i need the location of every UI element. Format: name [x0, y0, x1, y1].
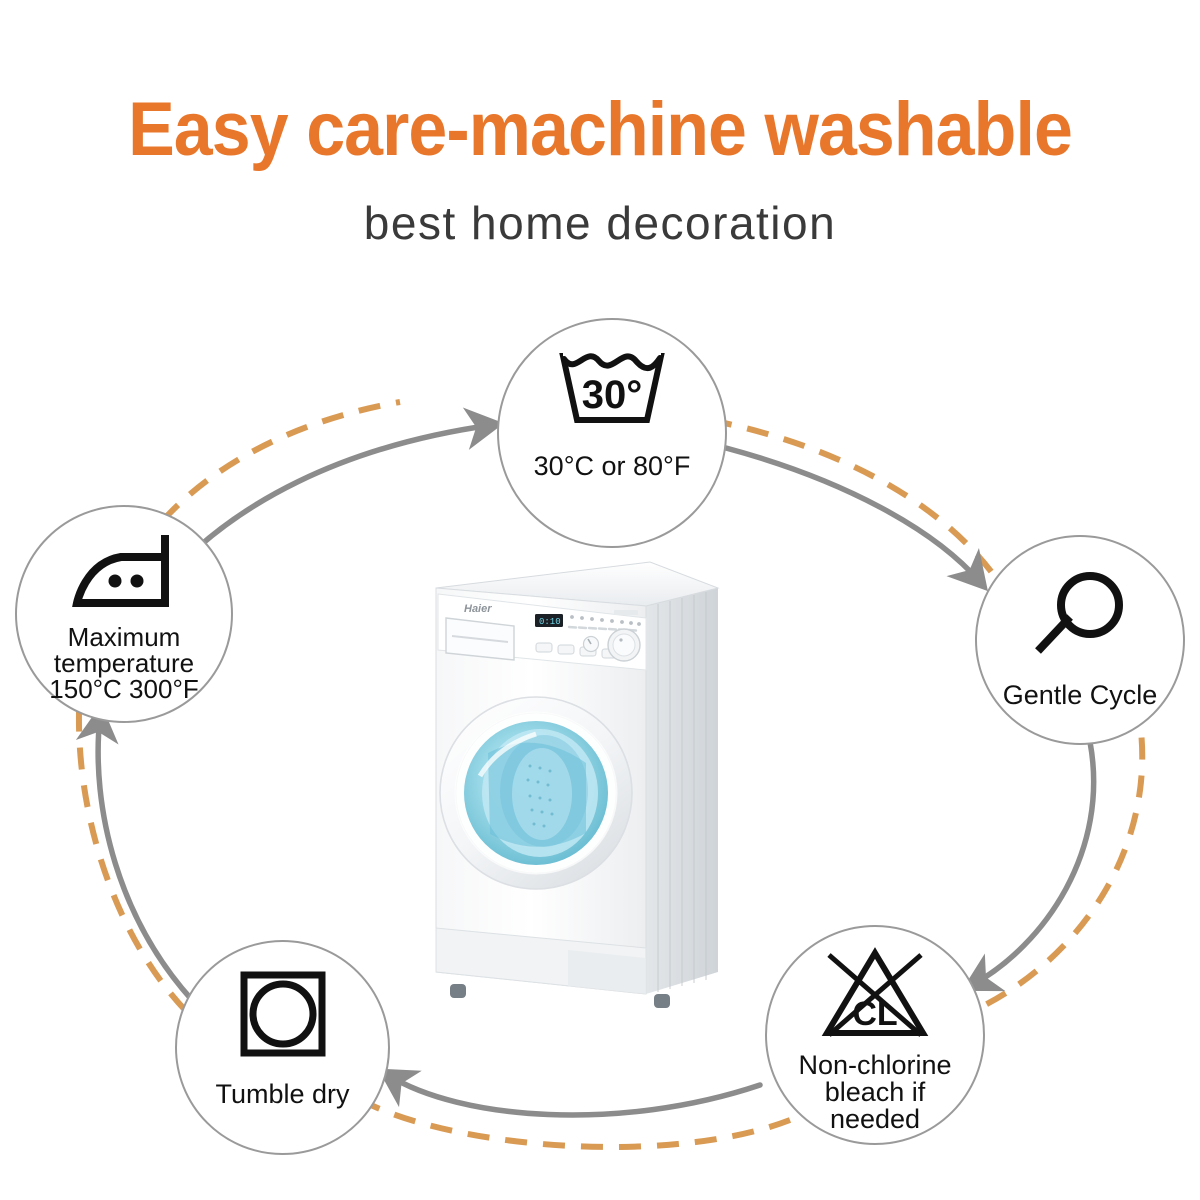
care-node-iron-label: Maximum temperature 150°C 300°F — [49, 624, 198, 702]
wash-tub-30-icon: 30° — [553, 346, 671, 437]
washer-display-text: 0:10 — [539, 617, 561, 627]
washer-foot-left — [450, 984, 466, 998]
care-node-tumble-dry[interactable]: Tumble dry — [175, 940, 390, 1155]
tumble-dry-icon — [237, 968, 329, 1065]
washer-small-knob[interactable] — [584, 637, 599, 652]
gentle-cycle-icon — [1028, 567, 1132, 664]
wash-temp-value: 30° — [582, 373, 643, 417]
care-node-gentle-cycle[interactable]: Gentle Cycle — [975, 535, 1185, 745]
washer-program-dial[interactable] — [608, 629, 640, 661]
care-node-wash[interactable]: 30° 30°C or 80°F — [497, 318, 727, 548]
care-node-bleach-label: Non-chlorine bleach if needed — [798, 1052, 951, 1133]
bleach-cl-text: CL — [852, 995, 897, 1033]
washer-foot-right — [654, 994, 670, 1008]
care-node-tumble-dry-label: Tumble dry — [215, 1081, 349, 1109]
washer-model-sticker — [614, 610, 638, 615]
care-node-bleach[interactable]: CL Non-chlorine bleach if needed — [765, 925, 985, 1145]
washing-machine-illustration: Haier 0:10 — [418, 548, 738, 1018]
washer-brand-logo: Haier — [464, 603, 492, 615]
iron-two-dots-icon — [69, 529, 179, 616]
care-node-wash-label: 30°C or 80°F — [534, 453, 691, 481]
washer-door[interactable] — [440, 697, 632, 889]
infographic-canvas: Easy care-machine washable best home dec… — [0, 0, 1200, 1200]
care-node-gentle-cycle-label: Gentle Cycle — [1003, 682, 1158, 710]
non-chlorine-bleach-icon: CL — [819, 945, 931, 1046]
care-node-iron[interactable]: Maximum temperature 150°C 300°F — [15, 505, 233, 723]
